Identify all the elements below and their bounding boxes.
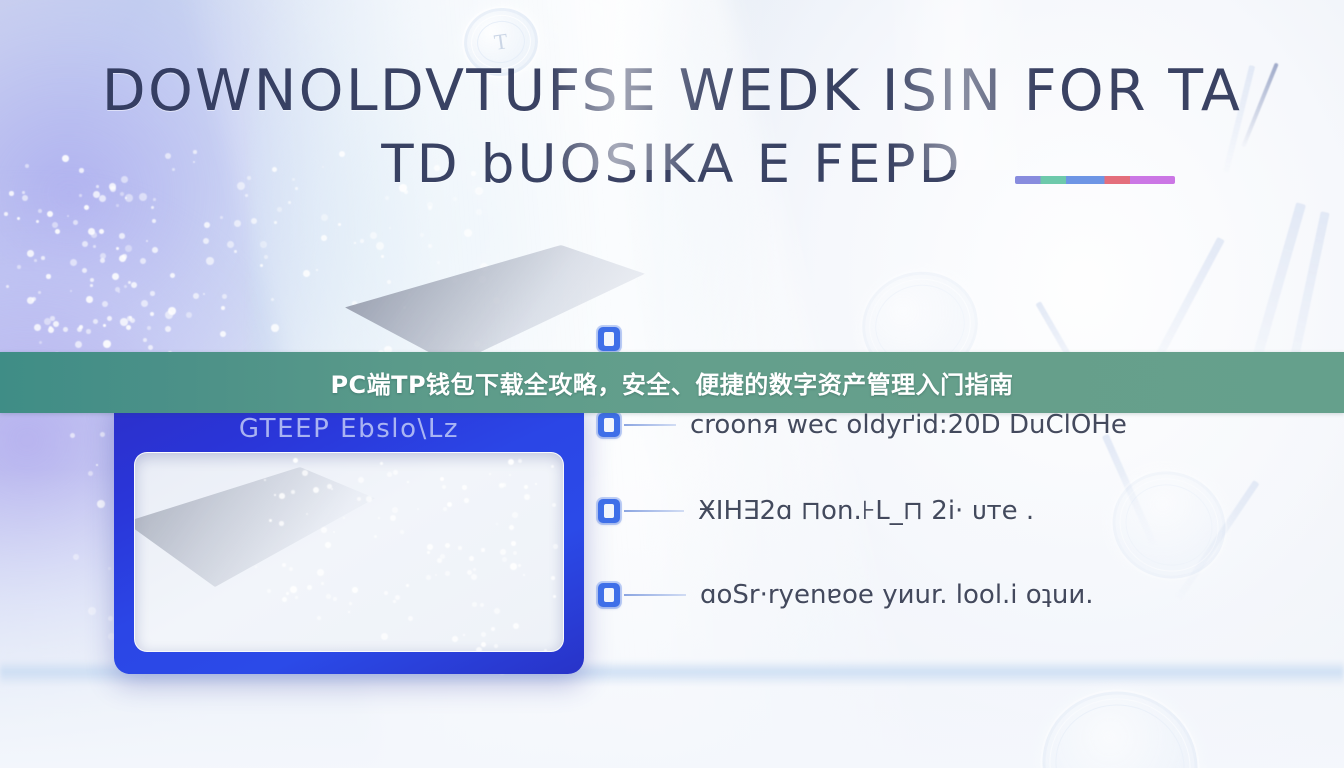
sparkle-dot (512, 512, 518, 518)
sparkle-dot (349, 602, 352, 605)
bullet-connector-line (624, 424, 676, 426)
sparkle-dot (553, 544, 558, 549)
coin-watermark-top: T (457, 1, 544, 83)
sparkle-dot (458, 546, 462, 550)
sparkle-dot (384, 591, 388, 595)
sparkle-dot (443, 507, 447, 511)
sparkle-dot (508, 459, 514, 465)
sparkle-dot (267, 589, 271, 593)
sparkle-dot (326, 594, 331, 599)
sparkle-dot (417, 508, 419, 510)
sparkle-dot (255, 566, 257, 568)
list-item-label: ӾIH∃2ɑ ⊓on.⊦L_⊓ 2i· ᴜтe . (698, 496, 1034, 526)
sparkle-dot (469, 556, 474, 561)
sparkle-dot (291, 490, 295, 494)
sparkle-dot (510, 563, 517, 570)
sparkle-dot (321, 527, 327, 533)
sparkle-dot (464, 498, 469, 503)
sparkle-dot (511, 541, 516, 546)
sparkle-dot (496, 523, 498, 525)
sparkle-dot (471, 574, 477, 580)
sparkle-dot (513, 623, 519, 629)
sparkle-dot (317, 616, 321, 620)
sparkle-dot (318, 651, 322, 652)
sparkle-dot (551, 465, 554, 468)
sparkle-dot (289, 567, 293, 571)
sparkle-dot (406, 584, 409, 587)
sparkle-dot (442, 485, 446, 489)
sparkle-dot (274, 494, 276, 496)
sparkle-dot (552, 503, 556, 507)
sparkle-dot (269, 519, 272, 522)
sparkle-dot (348, 611, 350, 613)
sparkle-dot (293, 458, 298, 463)
sparkle-dot (481, 642, 486, 647)
sparkle-dot (380, 462, 383, 465)
sparkle-dot (343, 517, 345, 519)
sparkle-dot (374, 535, 377, 538)
blue-panel: GTEEP Ebslo\Lz (114, 392, 584, 674)
sparkle-dot (494, 644, 498, 648)
sparkle-dot (524, 485, 528, 489)
sparkle-dot (313, 487, 319, 493)
bullet-square-icon (598, 413, 620, 437)
panel-preview-card (134, 452, 564, 652)
sparkle-dot (513, 551, 517, 555)
bullet-square-icon (598, 327, 620, 351)
sparkle-dot (286, 592, 289, 595)
sparkle-dot (352, 587, 358, 593)
sparkle-dot (481, 548, 485, 552)
sparkle-dot (395, 595, 400, 600)
sparkle-dot (325, 542, 331, 548)
sparkle-dot (393, 600, 396, 603)
sparkle-dot (306, 513, 308, 515)
sparkle-dot (279, 493, 285, 499)
list-item[interactable]: ӾIH∃2ɑ ⊓on.⊦L_⊓ 2i· ᴜтe . (598, 494, 1034, 528)
sparkle-dot (473, 568, 476, 571)
sparkle-dot (481, 632, 486, 637)
bullet-square-icon (598, 499, 620, 523)
sparkle-dot (357, 497, 361, 501)
bullet-connector-line (624, 594, 686, 596)
sparkle-dot (333, 597, 337, 601)
sparkle-dot (427, 551, 430, 554)
sparkle-dot (489, 473, 491, 475)
sparkle-dot (400, 530, 404, 534)
sparkle-dot (509, 474, 511, 476)
sparkle-dot (509, 525, 514, 530)
sparkle-dot (500, 549, 506, 555)
sparkle-dot (445, 571, 450, 576)
sparkle-dot (264, 479, 266, 481)
sparkle-dot (472, 602, 477, 607)
list-item-label: ɑoЅr·ryenɐoe yиur. lool.i oʇuи. (700, 580, 1094, 610)
sparkle-dot (381, 633, 388, 640)
accent-rule (1015, 176, 1175, 184)
sparkle-dot (282, 563, 286, 567)
sparkle-dot (333, 531, 335, 533)
sparkle-dot (279, 521, 284, 526)
title-bar: PC端TP钱包下载全攻略，安全、便捷的数字资产管理入门指南 (0, 352, 1344, 413)
sparkle-dot (518, 564, 521, 567)
sparkle-dot (426, 575, 431, 580)
sparkle-dot (387, 472, 392, 477)
bullet-square-icon (598, 583, 620, 607)
sparkle-dot (523, 574, 525, 576)
sparkle-dot (358, 477, 364, 483)
list-item[interactable]: ɑoЅr·ryenɐoe yиur. lool.i oʇuи. (598, 578, 1094, 612)
sparkle-dot (378, 517, 380, 519)
sparkle-dot (427, 544, 433, 550)
sparkle-dot (440, 477, 444, 481)
sparkle-dot (535, 483, 537, 485)
sparkle-dot (524, 494, 530, 500)
bullet-connector-line (624, 510, 684, 512)
sparkle-dot (302, 470, 308, 476)
sparkle-dot (331, 488, 333, 490)
sparkle-dot (435, 574, 437, 576)
blue-panel-heading: GTEEP Ebslo\Lz (114, 414, 584, 444)
list-item-label: croonя wec oldуґid:20D DuClOHe (690, 410, 1127, 440)
sparkle-dot (366, 496, 372, 502)
sparkle-dot (494, 608, 500, 614)
sparkle-dot (480, 603, 484, 607)
sparkle-dot (445, 543, 450, 548)
sparkle-dot (500, 484, 502, 486)
sparkle-dot (321, 582, 324, 585)
sparkle-dot (290, 586, 297, 593)
sparkle-dot (317, 569, 324, 576)
page-title: PC端TP钱包下载全攻略，安全、便捷的数字资产管理入门指南 (330, 365, 1013, 400)
sparkle-dot (408, 616, 413, 621)
sparkle-dot (462, 485, 467, 490)
sparkle-dot (393, 470, 398, 475)
sparkle-dot (553, 595, 556, 598)
sparkle-dot (452, 636, 458, 642)
coin-glyph: T (460, 3, 543, 81)
coin-inner-ring2 (1113, 471, 1225, 578)
banner-image: T DOWNOLDVTUFSE WEDK ISIN FOR TA TD bUOS… (0, 0, 1344, 768)
sparkle-dot (282, 597, 287, 602)
list-item[interactable] (598, 322, 620, 356)
sparkle-dot (476, 647, 482, 652)
sparkle-dot (295, 596, 298, 599)
sparkle-dot (518, 459, 522, 463)
sparkle-dot (390, 515, 396, 521)
sparkle-dot (447, 502, 452, 507)
sparkle-dot (440, 554, 445, 559)
sparkle-dot (491, 627, 495, 631)
sparkle-dot (551, 576, 555, 580)
panel-card-sparkles (135, 453, 563, 651)
sparkle-dot (307, 585, 312, 590)
list-item[interactable]: croonя wec oldуґid:20D DuClOHe (598, 408, 1127, 442)
sparkle-dot (463, 634, 465, 636)
sparkle-dot (407, 481, 409, 483)
sparkle-dot (392, 507, 398, 513)
sparkle-dot (544, 649, 547, 652)
sparkle-dot (502, 557, 507, 562)
